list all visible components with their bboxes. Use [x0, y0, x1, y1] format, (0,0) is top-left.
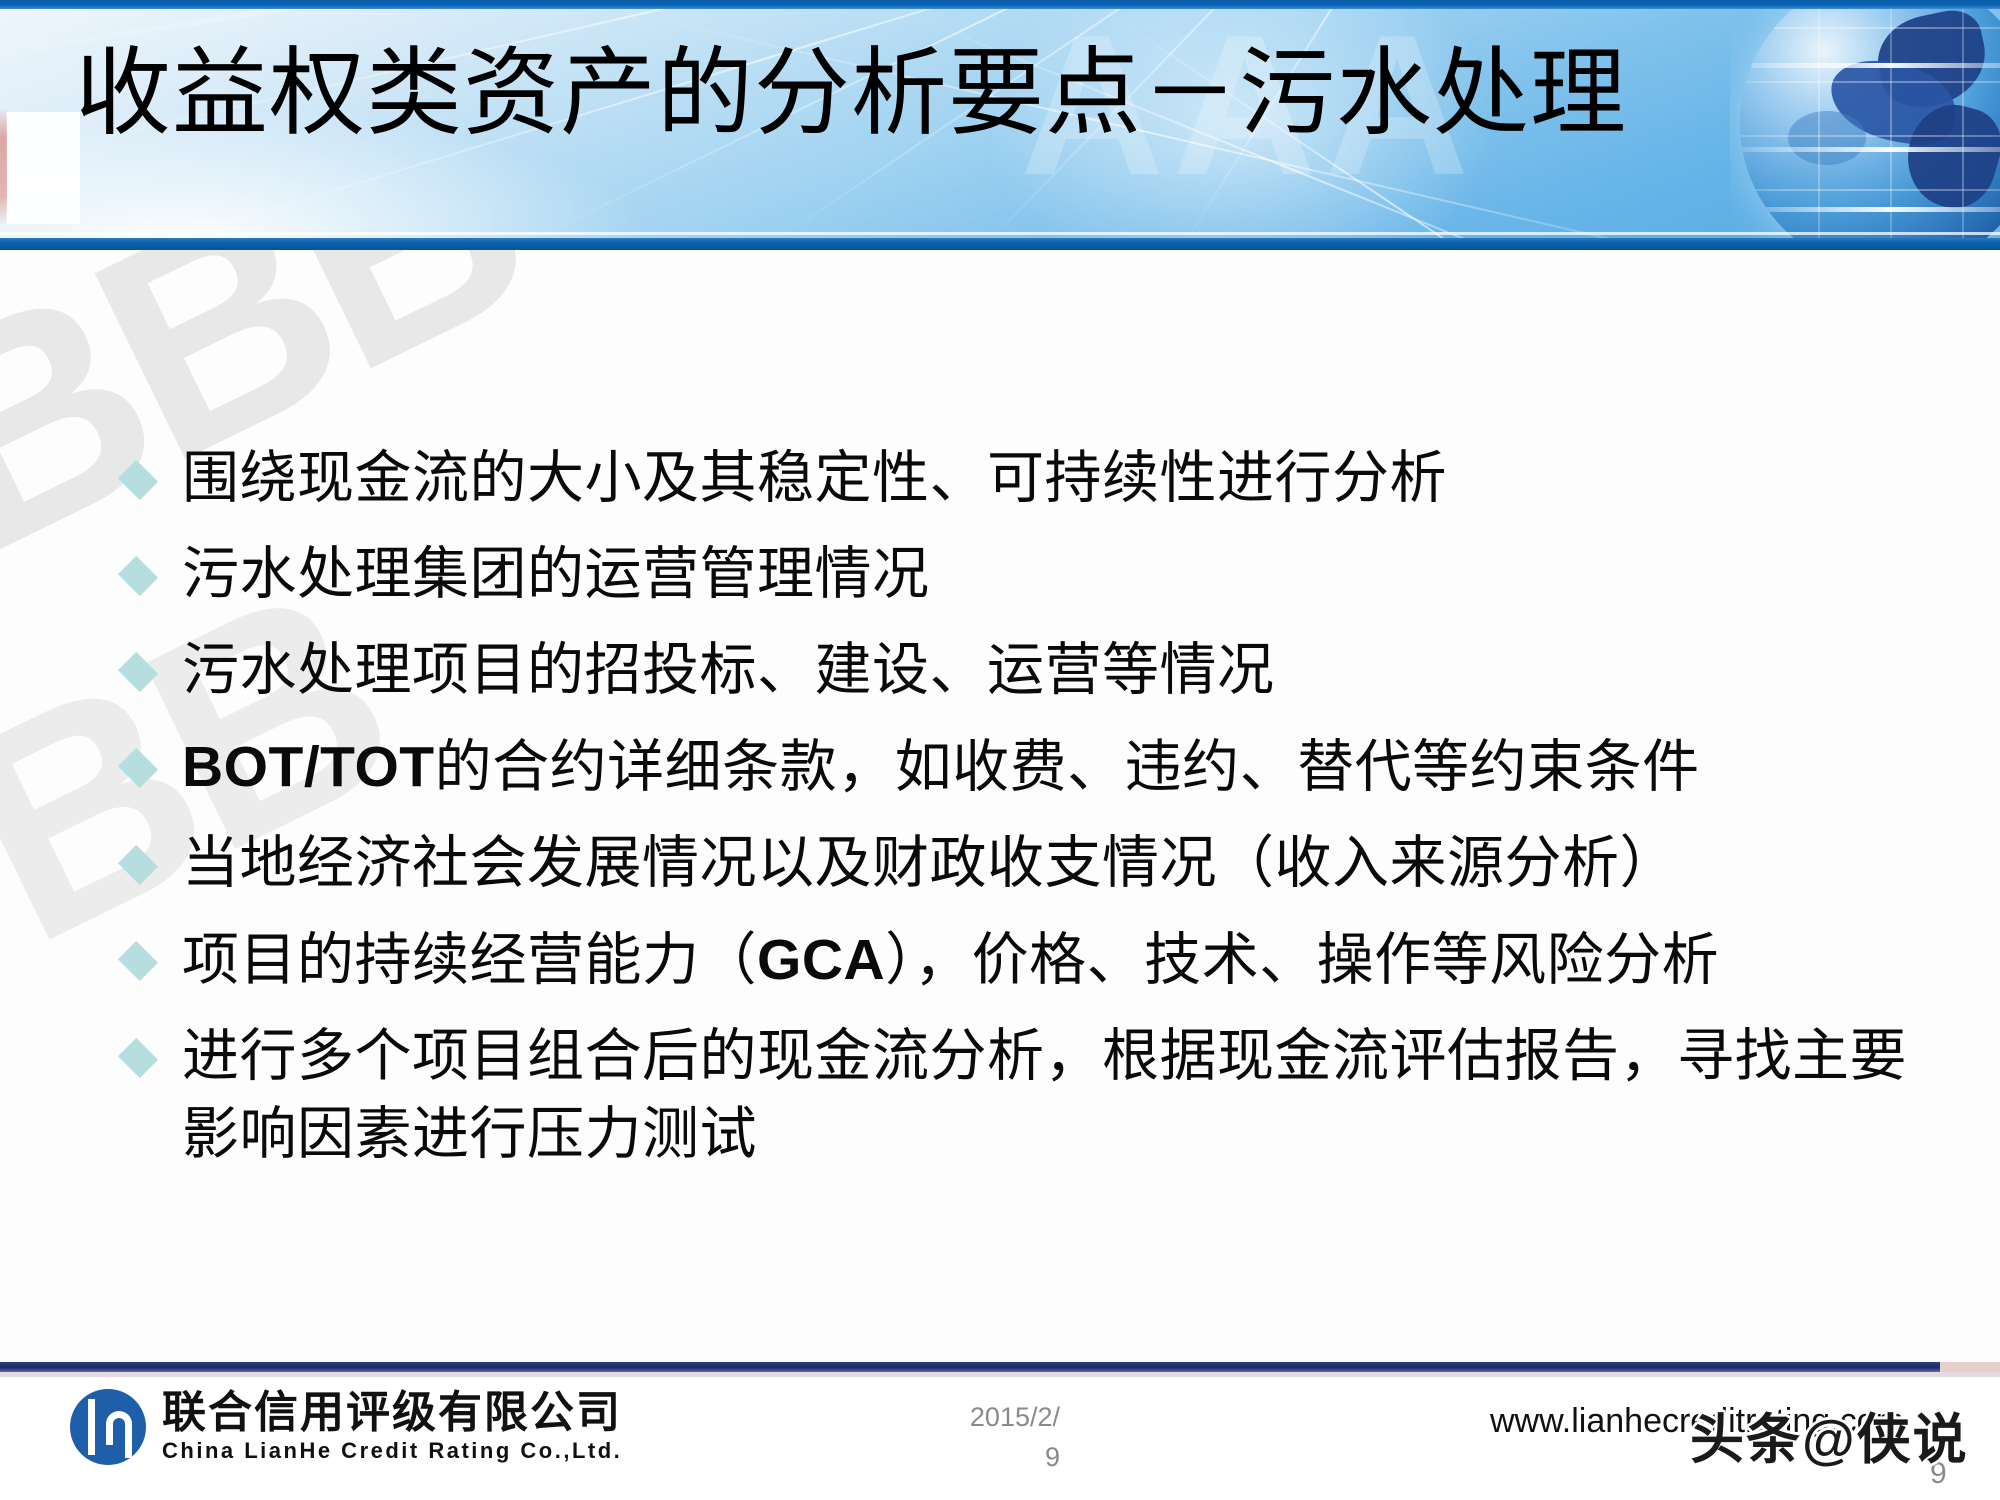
- diamond-bullet-icon: [118, 941, 158, 981]
- globe-streak: [1740, 63, 2000, 68]
- bullet-text: 项目的持续经营能力（GCA），价格、技术、操作等风险分析: [182, 921, 1950, 1000]
- bullet-bold-term: BOT/TOT: [182, 735, 435, 799]
- bullet-text: 污水处理项目的招投标、建设、运营等情况: [182, 632, 1950, 710]
- bullet-text: 进行多个项目组合后的现金流分析，根据现金流评估报告，寻找主要影响因素进行压力测试: [182, 1018, 1950, 1174]
- bullet-text: 当地经济社会发展情况以及财政收支情况（收入来源分析）: [182, 825, 1950, 903]
- globe-landmass: [1788, 111, 1866, 165]
- company-logo-text: 联合信用评级有限公司 China LianHe Credit Rating Co…: [162, 1389, 622, 1465]
- diamond-bullet-icon: [118, 652, 158, 692]
- header-hairline: [0, 232, 2000, 235]
- diamond-bullet-icon: [118, 748, 158, 788]
- globe-streak: [1740, 147, 2000, 152]
- list-item: 进行多个项目组合后的现金流分析，根据现金流评估报告，寻找主要影响因素进行压力测试: [120, 1018, 1950, 1174]
- globe-graphic: [1730, 9, 2000, 238]
- globe-longitude-line: [1962, 9, 1964, 238]
- globe-sphere: [1740, 9, 2000, 238]
- globe-latitude-line: [1740, 189, 2000, 191]
- header-top-accent-bar: [0, 0, 2000, 9]
- footer-date-line2: 9: [930, 1437, 1060, 1477]
- list-item: 围绕现金流的大小及其稳定性、可持续性进行分析: [120, 440, 1950, 518]
- bullet-text-a: 项目的持续经营能力（: [182, 929, 757, 992]
- header-bottom-accent-bar: [0, 238, 2000, 250]
- list-item: BOT/TOT的合约详细条款，如收费、违约、替代等约束条件: [120, 728, 1950, 807]
- company-logo: 联合信用评级有限公司 China LianHe Credit Rating Co…: [70, 1389, 622, 1465]
- diamond-bullet-icon: [118, 460, 158, 500]
- footer-date: 2015/2/ 9: [930, 1397, 1060, 1477]
- footer-divider-right-cap: [1940, 1362, 2000, 1372]
- globe-streak: [1740, 207, 2000, 212]
- globe-latitude-line: [1740, 135, 2000, 137]
- bullet-text-rest: 的合约详细条款，如收费、违约、替代等约束条件: [435, 736, 1700, 799]
- slide-body: BBB BBB BB 围绕现金流的大小及其稳定性、可持续性进行分析 污水处理集团…: [0, 250, 2000, 1364]
- diamond-bullet-icon: [118, 556, 158, 596]
- diamond-bullet-icon: [118, 845, 158, 885]
- lianhe-logo-icon: [70, 1389, 146, 1465]
- site-watermark: 头条@侠说: [1690, 1395, 1969, 1474]
- company-name-en: China LianHe Credit Rating Co.,Ltd.: [162, 1437, 622, 1465]
- bullet-text: BOT/TOT的合约详细条款，如收费、违约、替代等约束条件: [182, 728, 1950, 807]
- globe-longitude-line: [1890, 9, 1892, 238]
- logo-h-glyph: [106, 1411, 132, 1445]
- list-item: 项目的持续经营能力（GCA），价格、技术、操作等风险分析: [120, 921, 1950, 1000]
- page-title: 收益权类资产的分析要点－污水处理: [75, 38, 1627, 150]
- bullet-bold-term: GCA: [757, 928, 885, 992]
- globe-latitude-line: [1740, 27, 2000, 29]
- footer-date-line1: 2015/2/: [930, 1397, 1060, 1437]
- slide-canvas: AAA: [0, 0, 2000, 1500]
- list-item: 污水处理项目的招投标、建设、运营等情况: [120, 632, 1950, 710]
- bullet-text-b: ），价格、技术、操作等风险分析: [885, 929, 1719, 992]
- list-item: 当地经济社会发展情况以及财政收支情况（收入来源分析）: [120, 825, 1950, 903]
- globe-longitude-line: [1818, 9, 1820, 238]
- diamond-bullet-icon: [118, 1038, 158, 1078]
- company-name-cn: 联合信用评级有限公司: [162, 1389, 622, 1437]
- left-edge-red-mark: [0, 108, 7, 226]
- footer-divider-rule: [0, 1362, 2000, 1372]
- bullet-list: 围绕现金流的大小及其稳定性、可持续性进行分析 污水处理集团的运营管理情况 污水处…: [120, 440, 1950, 1192]
- left-white-patch: [6, 112, 80, 224]
- bullet-text: 污水处理集团的运营管理情况: [182, 536, 1950, 614]
- bullet-text: 围绕现金流的大小及其稳定性、可持续性进行分析: [182, 440, 1950, 518]
- list-item: 污水处理集团的运营管理情况: [120, 536, 1950, 614]
- globe-latitude-line: [1740, 81, 2000, 83]
